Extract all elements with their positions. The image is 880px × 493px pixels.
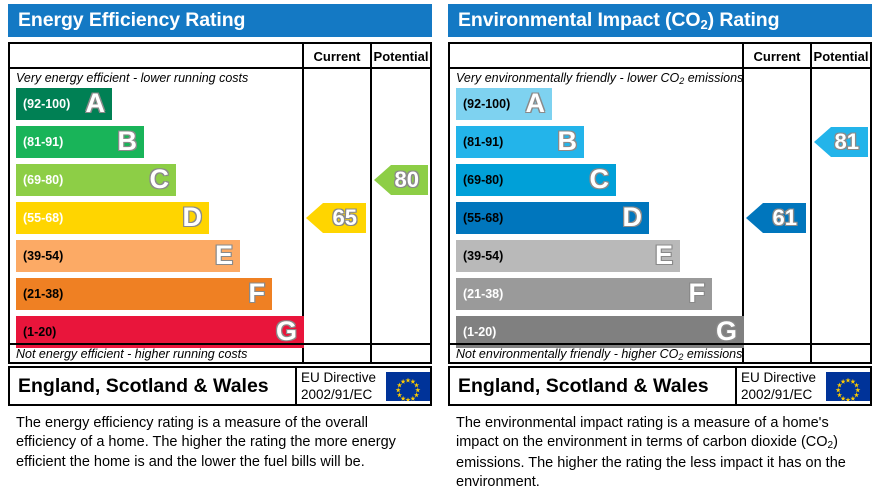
country-label: England, Scotland & Wales [18,368,269,404]
band-range-d: (55-68) [463,202,503,234]
title-text: Energy Efficiency Rating [18,9,245,31]
scale-note-top: Very energy efficient - lower running co… [16,71,248,85]
title-subscript: 2 [700,17,707,32]
directive-line-1: EU Directive [741,369,825,386]
note-text: Very energy efficient - lower running co… [16,71,248,85]
band-bar-c: (69-80) C [16,164,176,196]
band-bar-b: (81-91) B [16,126,144,158]
band-bar-e: (39-54) E [16,240,240,272]
band-range-e: (39-54) [463,240,503,272]
band-range-e: (39-54) [23,240,63,272]
column-divider-1 [742,44,744,362]
band-letter-c: C [590,164,610,196]
note-subscript: 2 [678,352,683,362]
band-range-d: (55-68) [23,202,63,234]
country-directive-bar: England, Scotland & Wales EU Directive 2… [8,366,432,406]
header-divider [10,67,430,69]
band-letter-e: E [655,240,673,272]
description-text: The environmental impact rating is a mea… [456,415,829,450]
band-letter-d: D [183,202,203,234]
directive-line-2: 2002/91/EC [741,386,825,403]
environmental-impact-panel: Environmental Impact (CO2) Rating Curren… [440,0,872,493]
band-range-b: (81-91) [463,126,503,158]
note-text: Very environmentally friendly - lower CO [456,71,679,85]
band-bar-a: (92-100) A [456,88,552,120]
band-letter-c: C [150,164,170,196]
band-letter-f: F [689,278,706,310]
description-text: The energy efficiency rating is a measur… [16,415,396,470]
eu-flag-icon [826,372,870,401]
band-bar-f: (21-38) F [16,278,272,310]
current-rating-arrow: 61 [746,203,806,233]
energy-efficiency-chart: Current Potential Very energy efficient … [8,42,432,364]
directive-divider [295,368,297,404]
potential-rating-arrow: 80 [374,165,428,195]
energy-efficiency-panel: Energy Efficiency Rating Current Potenti… [0,0,432,493]
band-letter-a: A [526,88,546,120]
band-letter-e: E [215,240,233,272]
band-letter-b: B [118,126,138,158]
column-header-current: Current [304,46,370,67]
bottom-divider [10,343,430,345]
band-range-c: (69-80) [463,164,503,196]
band-letter-f: F [249,278,266,310]
directive-line-1: EU Directive [301,369,385,386]
eu-directive-text: EU Directive 2002/91/EC [741,369,825,403]
band-bar-e: (39-54) E [456,240,680,272]
column-divider-2 [370,44,372,362]
environmental-impact-description: The environmental impact rating is a mea… [456,414,860,493]
directive-line-2: 2002/91/EC [301,386,385,403]
band-range-b: (81-91) [23,126,63,158]
title-text: Environmental Impact (CO [458,9,700,31]
note-text: Not environmentally friendly - higher CO [456,347,678,361]
band-bar-d: (55-68) D [16,202,209,234]
band-bar-d: (55-68) D [456,202,649,234]
column-divider-1 [302,44,304,362]
band-bar-f: (21-38) F [456,278,712,310]
band-range-c: (69-80) [23,164,63,196]
energy-efficiency-description: The energy efficiency rating is a measur… [16,414,420,472]
environmental-impact-chart: Current Potential Very environmentally f… [448,42,872,364]
potential-rating-arrow: 81 [814,127,868,157]
note-tail: emissions [684,71,743,85]
band-range-f: (21-38) [23,278,63,310]
environmental-impact-title: Environmental Impact (CO2) Rating [448,4,872,37]
column-header-current: Current [744,46,810,67]
eu-directive-text: EU Directive 2002/91/EC [301,369,385,403]
band-letter-b: B [558,126,578,158]
band-range-a: (92-100) [23,88,70,120]
title-tail: ) Rating [708,9,780,31]
band-letter-d: D [623,202,643,234]
note-tail: emissions [683,347,742,361]
band-bar-c: (69-80) C [456,164,616,196]
note-text: Not energy efficient - higher running co… [16,347,247,361]
column-header-potential: Potential [812,46,870,67]
band-range-f: (21-38) [463,278,503,310]
directive-divider [735,368,737,404]
energy-efficiency-title: Energy Efficiency Rating [8,4,432,37]
epc-certificate: Energy Efficiency Rating Current Potenti… [0,0,880,493]
band-bar-b: (81-91) B [456,126,584,158]
band-bar-a: (92-100) A [16,88,112,120]
current-rating-arrow: 65 [306,203,366,233]
column-header-potential: Potential [372,46,430,67]
band-range-a: (92-100) [463,88,510,120]
eu-flag-icon [386,372,430,401]
note-subscript: 2 [679,76,684,86]
header-divider [450,67,870,69]
scale-note-bottom: Not energy efficient - higher running co… [16,347,247,361]
bottom-divider [450,343,870,345]
country-directive-bar: England, Scotland & Wales EU Directive 2… [448,366,872,406]
scale-note-bottom: Not environmentally friendly - higher CO… [456,347,742,361]
description-subscript: 2 [828,440,834,451]
band-letter-a: A [86,88,106,120]
scale-note-top: Very environmentally friendly - lower CO… [456,71,743,85]
country-label: England, Scotland & Wales [458,368,709,404]
column-divider-2 [810,44,812,362]
